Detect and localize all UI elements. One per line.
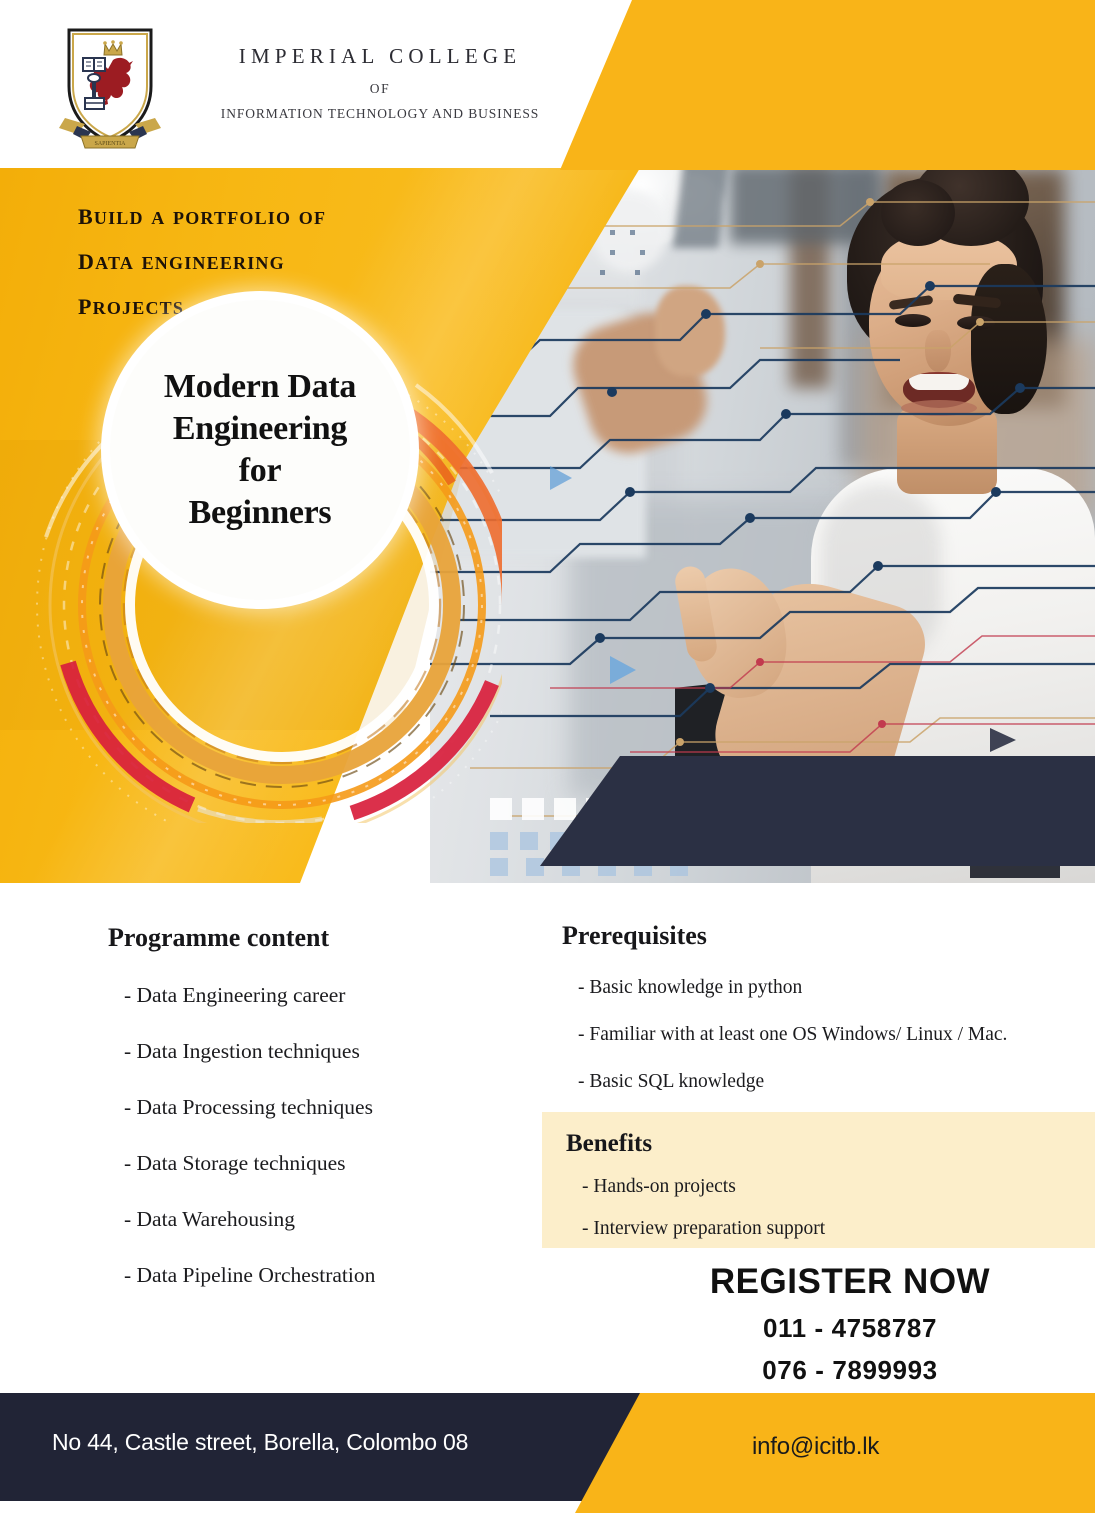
hero-headline-line2: data engineering (78, 237, 326, 282)
course-title: Modern Data Engineering for Beginners (164, 366, 356, 534)
college-name-block: IMPERIAL COLLEGE OF INFORMATION TECHNOLO… (170, 44, 590, 122)
college-name-line3: INFORMATION TECHNOLOGY AND BUSINESS (170, 106, 590, 122)
programme-heading: Programme content (108, 923, 528, 953)
list-item: - Data Engineering career (108, 983, 528, 1008)
course-title-badge: Modern Data Engineering for Beginners (110, 300, 410, 600)
prerequisites-block: Prerequisites - Basic knowledge in pytho… (562, 921, 1072, 1118)
hero-headline-line1: Build a portfolio of (78, 192, 326, 237)
college-name-line1: IMPERIAL COLLEGE (170, 44, 590, 69)
list-item: - Data Ingestion techniques (108, 1039, 528, 1064)
list-item: - Hands-on projects (566, 1176, 1095, 1198)
benefits-list: - Hands-on projects - Interview preparat… (566, 1176, 1095, 1240)
list-item: - Data Processing techniques (108, 1095, 528, 1120)
course-title-line4: Beginners (164, 492, 356, 534)
benefits-block: Benefits - Hands-on projects - Interview… (542, 1112, 1095, 1248)
register-now-title: REGISTER NOW (640, 1262, 1060, 1302)
list-item: - Data Storage techniques (108, 1151, 528, 1176)
course-title-line2: Engineering (164, 408, 356, 450)
register-phone-2[interactable]: 076 - 7899993 (640, 1355, 1060, 1386)
footer-address: No 44, Castle street, Borella, Colombo 0… (52, 1429, 468, 1456)
list-item: - Data Pipeline Orchestration (108, 1263, 528, 1288)
course-title-line1: Modern Data (164, 366, 356, 408)
college-name-line2: OF (170, 81, 590, 97)
footer-email[interactable]: info@icitb.lk (752, 1433, 879, 1461)
benefits-heading: Benefits (566, 1130, 1095, 1158)
course-title-line3: for (164, 450, 356, 492)
college-crest-icon: SAPIENTIA (55, 22, 165, 150)
list-item: - Interview preparation support (566, 1218, 1095, 1240)
prerequisites-heading: Prerequisites (562, 921, 1072, 951)
tagline-banner (530, 756, 1095, 866)
list-item: - Basic knowledge in python (562, 977, 1072, 999)
poster-root: SAPIENTIA IMPERIAL COLLEGE OF INFORMATIO… (0, 0, 1095, 1536)
programme-content-block: Programme content - Data Engineering car… (108, 923, 528, 1319)
svg-text:SAPIENTIA: SAPIENTIA (95, 141, 127, 147)
list-item: - Familiar with at least one OS Windows/… (562, 1024, 1072, 1046)
register-block: REGISTER NOW 011 - 4758787 076 - 7899993 (640, 1262, 1060, 1386)
programme-list: - Data Engineering career - Data Ingesti… (108, 983, 528, 1288)
register-phone-1[interactable]: 011 - 4758787 (640, 1313, 1060, 1344)
list-item: - Data Warehousing (108, 1207, 528, 1232)
list-item: - Basic SQL knowledge (562, 1071, 1072, 1093)
prerequisites-list: - Basic knowledge in python - Familiar w… (562, 977, 1072, 1093)
footer-bar: No 44, Castle street, Borella, Colombo 0… (0, 1393, 1095, 1536)
